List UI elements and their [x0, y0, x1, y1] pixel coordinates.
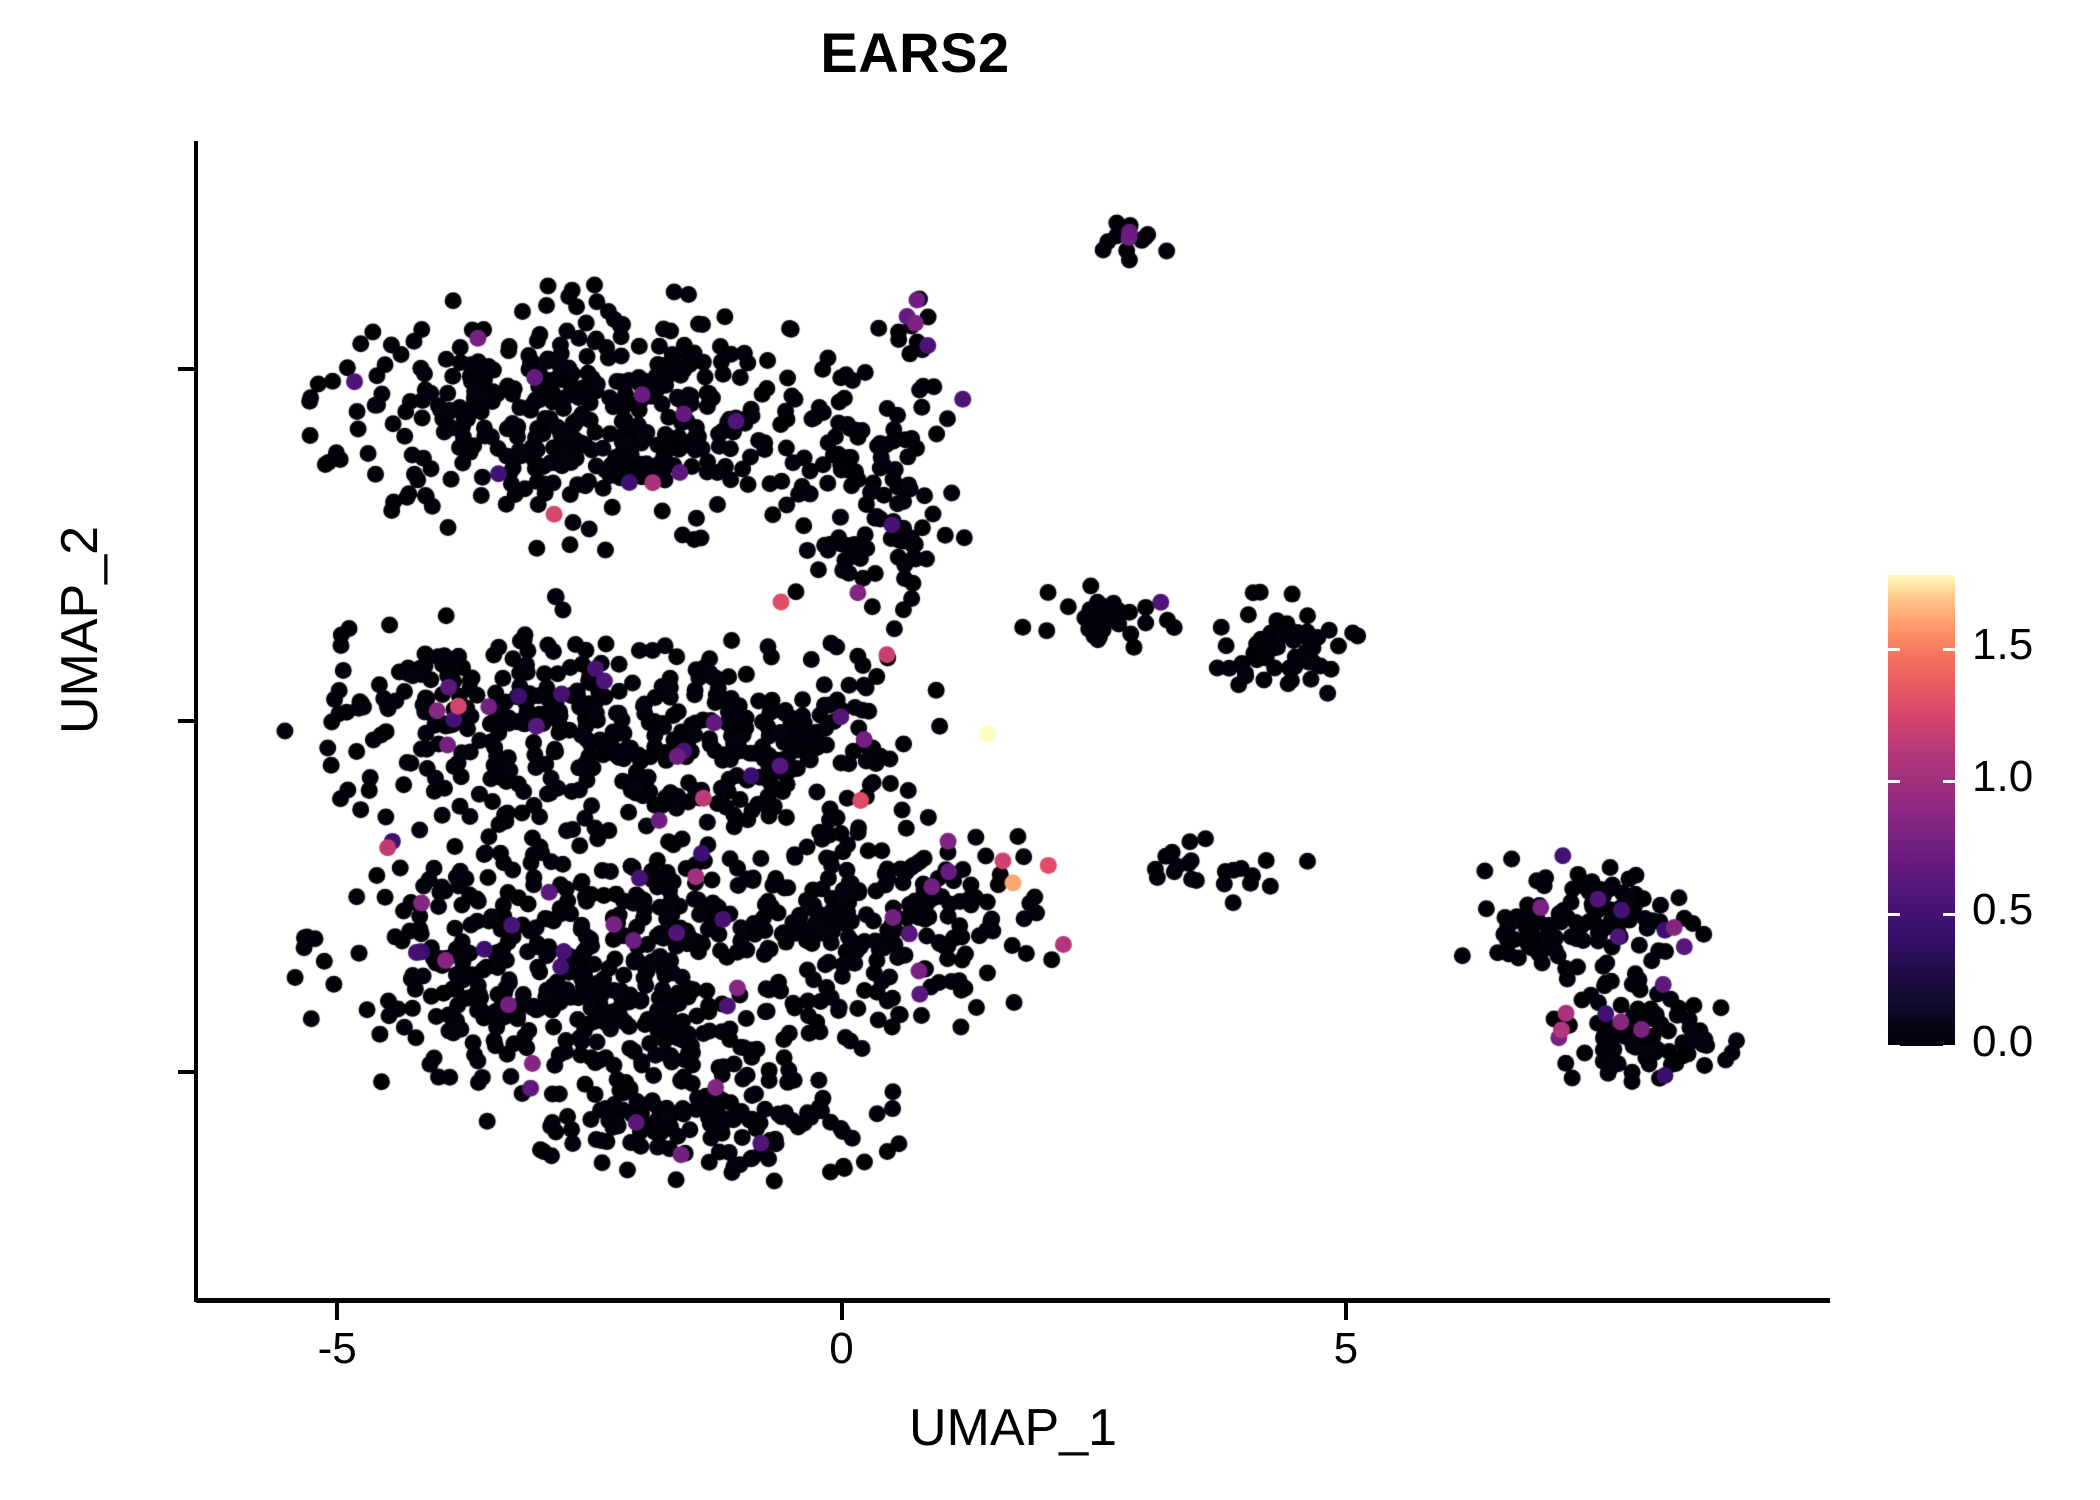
colorbar-tick-label: 0.5: [1972, 888, 2033, 932]
scatter-plot-canvas: [196, 141, 1830, 1300]
colorbar-tick-label: 1.5: [1972, 623, 2033, 667]
umap-feature-plot: EARS2 40-4-505 UMAP_2 UMAP_1 1.51.00.50.…: [0, 0, 2100, 1500]
x-axis-line: [196, 1298, 1830, 1303]
x-tick-mark: [1344, 1303, 1348, 1320]
colorbar-tick-mark: [1943, 1045, 1955, 1048]
colorbar-tick-mark: [1943, 648, 1955, 651]
y-tick-mark: [178, 367, 194, 371]
colorbar-tick-mark: [1888, 648, 1900, 651]
colorbar-tick-label: 1.0: [1972, 755, 2033, 799]
colorbar-tick-label: 0.0: [1972, 1020, 2033, 1064]
colorbar-tick-mark: [1888, 1045, 1900, 1048]
x-tick-mark: [335, 1303, 339, 1320]
colorbar-tick-mark: [1943, 913, 1955, 916]
x-tick-label: 0: [742, 1324, 942, 1374]
colorbar-tick-mark: [1943, 780, 1955, 783]
plot-panel: [196, 141, 1830, 1300]
y-axis-line: [194, 141, 198, 1302]
x-axis-label: UMAP_1: [196, 1398, 1830, 1458]
colorbar-tick-mark: [1888, 780, 1900, 783]
x-tick-label: -5: [237, 1324, 437, 1374]
colorbar-tick-mark: [1888, 913, 1900, 916]
page-title: EARS2: [0, 22, 1830, 84]
colorbar-legend: 1.51.00.50.0: [1888, 575, 2078, 1055]
colorbar-gradient: [1888, 575, 1955, 1046]
x-tick-label: 5: [1246, 1324, 1446, 1374]
y-axis-label: UMAP_2: [50, 330, 110, 930]
x-tick-mark: [840, 1303, 844, 1320]
y-tick-mark: [178, 719, 194, 723]
y-tick-mark: [178, 1070, 194, 1074]
